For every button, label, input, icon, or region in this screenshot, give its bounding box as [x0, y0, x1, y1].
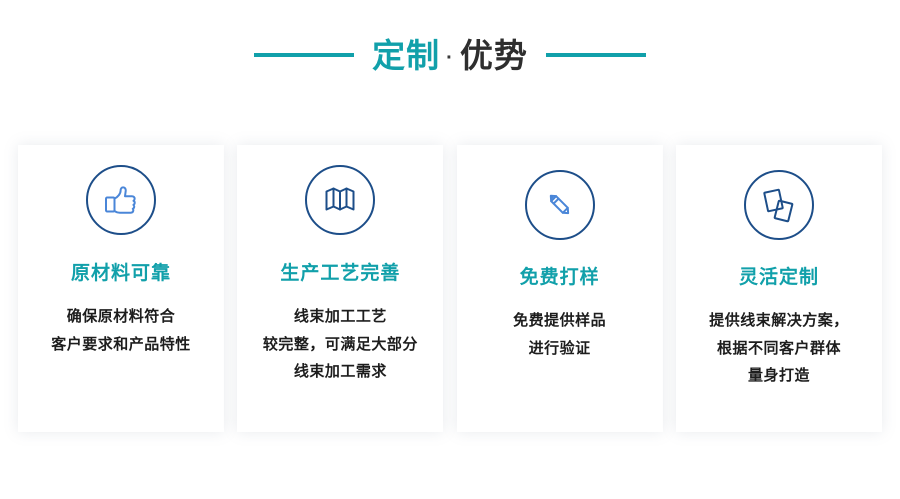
page-title-secondary: 优势: [460, 39, 528, 72]
icon-circle: [525, 170, 595, 240]
description-line: 量身打造: [709, 362, 849, 390]
folded-map-icon: [320, 180, 360, 220]
description-line: 进行验证: [513, 335, 606, 363]
icon-circle: [86, 165, 156, 235]
feature-card-list: 原材料可靠 确保原材料符合 客户要求和产品特性 生产工艺完善 线束加工工艺 较完…: [18, 145, 882, 432]
description-line: 客户要求和产品特性: [51, 331, 191, 359]
page-title-primary: 定制: [372, 39, 440, 72]
feature-card-title: 灵活定制: [739, 267, 819, 290]
feature-card-description: 确保原材料符合 客户要求和产品特性: [51, 303, 191, 359]
feature-card-title: 生产工艺完善: [280, 263, 400, 286]
description-line: 根据不同客户群体: [709, 335, 849, 363]
icon-circle: [744, 170, 814, 240]
header-rule-right: [546, 53, 646, 57]
feature-card-title: 原材料可靠: [71, 263, 171, 286]
section-header: 定制 · 优势: [0, 0, 900, 110]
feature-card[interactable]: 免费打样 免费提供样品 进行验证: [457, 145, 663, 432]
feature-card[interactable]: 灵活定制 提供线束解决方案， 根据不同客户群体 量身打造: [676, 145, 882, 432]
description-line: 线束加工需求: [263, 358, 418, 386]
description-line: 确保原材料符合: [51, 303, 191, 331]
description-line: 提供线束解决方案，: [709, 307, 849, 335]
stacked-cards-icon: [759, 185, 799, 225]
header-rule-left: [254, 53, 354, 57]
icon-circle: [305, 165, 375, 235]
page-title: 定制 · 优势: [372, 39, 528, 72]
pencil-icon: [540, 185, 580, 225]
description-line: 线束加工工艺: [263, 303, 418, 331]
feature-card-title: 免费打样: [520, 267, 600, 290]
feature-card[interactable]: 生产工艺完善 线束加工工艺 较完整，可满足大部分 线束加工需求: [237, 145, 443, 432]
feature-card-description: 提供线束解决方案， 根据不同客户群体 量身打造: [709, 307, 849, 390]
description-line: 免费提供样品: [513, 307, 606, 335]
thumbs-up-icon: [101, 180, 141, 220]
feature-card-description: 免费提供样品 进行验证: [513, 307, 606, 363]
feature-card[interactable]: 原材料可靠 确保原材料符合 客户要求和产品特性: [18, 145, 224, 432]
description-line: 较完整，可满足大部分: [263, 331, 418, 359]
page-title-separator: ·: [440, 48, 460, 68]
feature-card-description: 线束加工工艺 较完整，可满足大部分 线束加工需求: [263, 303, 418, 386]
